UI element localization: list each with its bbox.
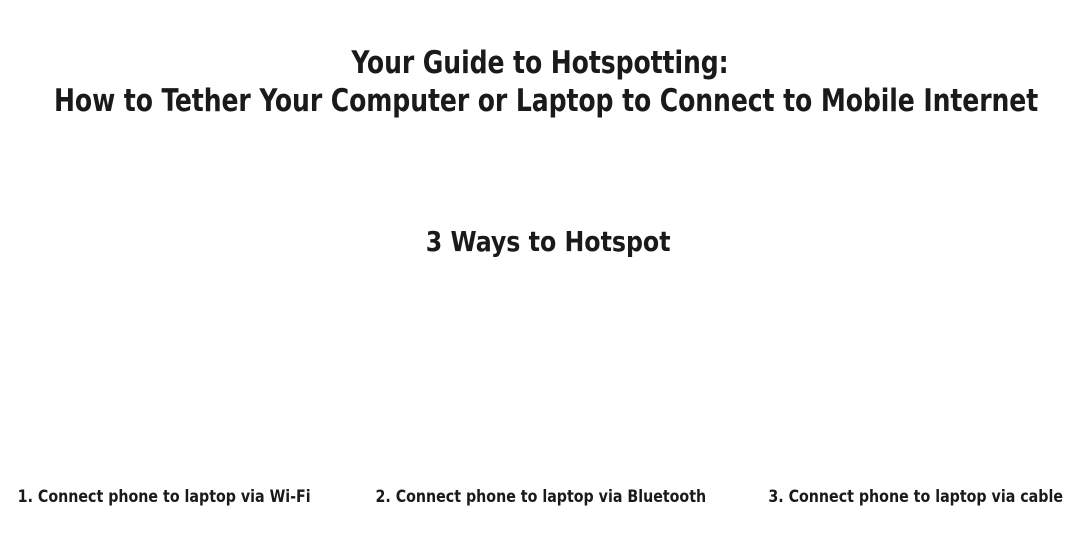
section-heading: 3 Ways to Hotspot <box>0 224 1080 260</box>
illustration-slot-bluetooth <box>360 280 720 476</box>
section-heading-text: 3 Ways to Hotspot <box>426 224 671 260</box>
infographic-page: Your Guide to Hotspotting: How to Tether… <box>0 0 1080 552</box>
title-line-2: How to Tether Your Computer or Laptop to… <box>54 82 1026 120</box>
title-line-1: Your Guide to Hotspotting: <box>54 44 1026 82</box>
caption-bluetooth: 2. Connect phone to laptop via Bluetooth <box>375 486 706 508</box>
caption-row: 1. Connect phone to laptop via Wi-Fi 2. … <box>0 486 1080 508</box>
illustration-row <box>0 280 1080 476</box>
illustration-slot-wifi <box>0 280 360 476</box>
illustration-slot-cable <box>720 280 1080 476</box>
caption-cable: 3. Connect phone to laptop via cable <box>744 486 1080 508</box>
page-title: Your Guide to Hotspotting: How to Tether… <box>0 44 1080 120</box>
caption-wifi: 1. Connect phone to laptop via Wi-Fi <box>0 486 337 508</box>
